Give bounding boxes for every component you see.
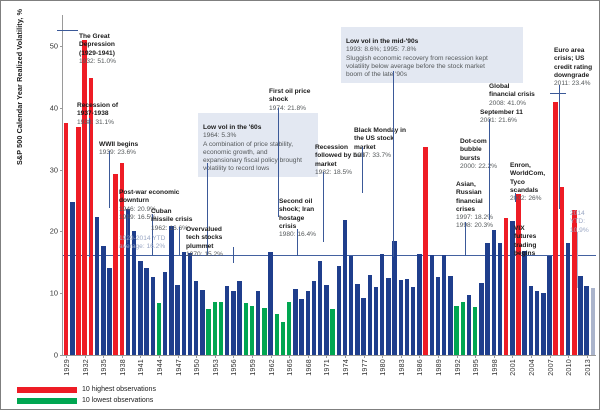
x-tick-label-1929: 1929: [62, 359, 71, 376]
x-tick-mark: [289, 355, 290, 358]
bar-2009: [560, 187, 564, 355]
leader-recession-1937: [89, 118, 90, 257]
bar-2004: [529, 286, 533, 355]
leader-low-vol-90s: [393, 71, 394, 257]
leader-wwii: [109, 151, 110, 208]
bar-1964: [281, 322, 285, 355]
annotation-2014-ytd: 2014 YTD: 10.9%: [570, 202, 600, 235]
leader-second-oil-shock: [297, 229, 298, 256]
x-tick-label-2004: 2004: [527, 359, 536, 376]
x-tick-mark: [531, 355, 532, 358]
bar-1972: [330, 309, 334, 355]
bar-1983: [399, 280, 403, 355]
bar-1990: [442, 255, 446, 355]
bar-1961: [262, 308, 266, 355]
bar-1991: [448, 276, 452, 355]
annotation-second-oil-shock: Second oil shock; Iran hostage crisis198…: [279, 190, 333, 239]
bar-1980: [380, 254, 384, 355]
x-tick-label-1950: 1950: [192, 359, 201, 376]
bar-1935: [101, 246, 105, 355]
x-tick-mark: [140, 355, 141, 358]
bar-1978: [368, 275, 372, 355]
bar-1944: [157, 303, 161, 355]
x-tick-mark: [233, 355, 234, 358]
y-tick-label: 10: [50, 289, 58, 298]
bar-1977: [361, 298, 365, 355]
bar-1943: [151, 277, 155, 355]
bar-1936: [107, 268, 111, 355]
leader-asian-russian: [465, 222, 466, 256]
bar-1971: [324, 285, 328, 355]
annotation-global-financial-crisis: Global financial crisis2008: 41.0%: [489, 75, 555, 108]
bar-1984: [405, 279, 409, 355]
bar-1974: [343, 220, 347, 355]
bar-1955: [225, 286, 229, 355]
bar-2014: [591, 288, 595, 355]
bar-1947: [175, 285, 179, 355]
annotation-tech-stocks: Overvalued tech stocks plummet1970: 15.2…: [186, 218, 248, 259]
bar-1960: [256, 291, 260, 355]
x-tick-label-1944: 1944: [155, 359, 164, 376]
x-tick-label-1977: 1977: [360, 359, 369, 376]
bar-1998: [492, 230, 496, 355]
bar-1954: [219, 302, 223, 355]
legend-item-lowest: 10 lowest observations: [17, 396, 156, 405]
x-tick-mark: [364, 355, 365, 358]
bar-1967: [299, 299, 303, 355]
bar-1945: [163, 272, 167, 355]
x-tick-mark: [568, 355, 569, 358]
bar-1952: [206, 309, 210, 355]
x-tick-label-2010: 2010: [564, 359, 573, 376]
bar-1968: [306, 291, 310, 355]
x-tick-mark: [345, 355, 346, 358]
x-tick-mark: [215, 355, 216, 358]
bar-2005: [535, 291, 539, 355]
bar-1981: [386, 278, 390, 355]
bar-1997: [485, 243, 489, 356]
x-tick-label-2007: 2007: [546, 359, 555, 376]
bar-1963: [275, 314, 279, 355]
bar-1982: [392, 241, 396, 355]
x-tick-label-1980: 1980: [378, 359, 387, 376]
bar-2008: [553, 102, 557, 355]
x-tick-mark: [122, 355, 123, 358]
bar-1930: [70, 202, 74, 355]
x-tick-label-1962: 1962: [267, 359, 276, 376]
annotation-great-depression: The Great Depression (1929-1941)1932: 51…: [79, 25, 159, 66]
bar-1966: [293, 289, 297, 355]
x-tick-label-1995: 1995: [471, 359, 480, 376]
bar-1989: [436, 277, 440, 356]
x-tick-mark: [85, 355, 86, 358]
annotation-black-monday: Black Monday in the US stock market1987:…: [354, 119, 434, 160]
bar-2000: [504, 218, 508, 355]
annotation-asian-russian: Asian, Russian financial crises1997: 18.…: [456, 173, 500, 230]
bar-1973: [337, 266, 341, 355]
bar-1950: [194, 281, 198, 355]
bar-1992: [454, 306, 458, 355]
bar-1948: [182, 252, 186, 355]
bar-1986: [417, 254, 421, 355]
y-tick-label: 30: [50, 165, 58, 174]
bar-1996: [479, 283, 483, 355]
bar-1975: [349, 256, 353, 355]
bar-1934: [95, 217, 99, 355]
x-tick-label-1941: 1941: [136, 359, 145, 376]
x-tick-mark: [550, 355, 551, 358]
x-tick-label-1938: 1938: [118, 359, 127, 376]
x-tick-mark: [438, 355, 439, 358]
annotation-euro-crisis: Euro area crisis; US credit rating downg…: [554, 39, 600, 88]
x-tick-label-1932: 1932: [81, 359, 90, 376]
x-tick-mark: [419, 355, 420, 358]
bar-1994: [467, 295, 471, 355]
bar-1979: [374, 287, 378, 355]
bar-1959: [250, 306, 254, 355]
x-tick-mark: [271, 355, 272, 358]
x-tick-mark: [178, 355, 179, 358]
bar-1969: [312, 281, 316, 355]
bar-1988: [430, 255, 434, 355]
y-tick-label: 50: [50, 41, 58, 50]
x-tick-mark: [382, 355, 383, 358]
bar-1965: [287, 302, 291, 355]
x-tick-mark: [159, 355, 160, 358]
bar-2007: [547, 256, 551, 355]
x-tick-mark: [308, 355, 309, 358]
bar-1929: [64, 123, 68, 355]
legend-label-lowest: 10 lowest observations: [82, 397, 153, 404]
leader-recession-1982: [323, 172, 324, 242]
bar-1956: [231, 291, 235, 355]
annotation-low-vol-60s: Low vol in the '60s1964: 5.3% A combinat…: [198, 113, 318, 177]
bar-2010: [566, 243, 570, 355]
bar-1931: [76, 127, 80, 355]
leader-tech-stocks: [233, 247, 234, 263]
x-tick-mark: [196, 355, 197, 358]
y-tick-label: 20: [50, 227, 58, 236]
x-tick-label-1947: 1947: [174, 359, 183, 376]
leader-global-financial-crisis: [550, 93, 566, 94]
x-tick-label-1992: 1992: [453, 359, 462, 376]
legend-swatch-lowest: [17, 398, 77, 404]
x-tick-mark: [401, 355, 402, 358]
bar-1953: [213, 302, 217, 355]
legend-swatch-highest: [17, 387, 77, 393]
bar-1993: [461, 302, 465, 355]
x-tick-mark: [475, 355, 476, 358]
x-tick-label-1998: 1998: [490, 359, 499, 376]
x-tick-mark: [326, 355, 327, 358]
x-tick-label-2013: 2013: [583, 359, 592, 376]
x-tick-label-1953: 1953: [211, 359, 220, 376]
bar-1932: [82, 40, 86, 355]
x-tick-label-1956: 1956: [229, 359, 238, 376]
bar-1941: [138, 261, 142, 355]
bar-1957: [237, 281, 241, 355]
x-tick-label-2001: 2001: [508, 359, 517, 376]
leader-euro-crisis: [559, 85, 560, 209]
bar-1987: [423, 147, 427, 355]
y-tick-label: 40: [50, 103, 58, 112]
x-tick-mark: [457, 355, 458, 358]
x-tick-label-1986: 1986: [415, 359, 424, 376]
bar-1999: [498, 243, 502, 355]
annotation-wwii: WWII begins1939: 23.6%: [99, 133, 173, 158]
x-tick-mark: [494, 355, 495, 358]
legend-label-highest: 10 highest observations: [82, 386, 156, 393]
x-tick-mark: [587, 355, 588, 358]
annotation-vix-futures: VIX futures trading begins: [514, 217, 552, 266]
bar-1985: [411, 287, 415, 355]
annotation-average: 1929-2014 YTD average: 16.2%: [119, 227, 189, 252]
y-tick-mark: [60, 355, 63, 356]
bar-1962: [268, 252, 272, 355]
bar-2013: [584, 286, 588, 355]
bar-1951: [200, 290, 204, 355]
annotation-enron: Enron, WorldCom, Tyco scandals2002: 26%: [510, 154, 552, 203]
x-tick-label-1959: 1959: [248, 359, 257, 376]
x-tick-mark: [66, 355, 67, 358]
y-axis-label: S&P 500 Calendar Year Realized Volatilit…: [15, 9, 24, 165]
x-tick-mark: [252, 355, 253, 358]
bar-1937: [113, 174, 117, 355]
legend-item-highest: 10 highest observations: [17, 385, 156, 394]
x-tick-label-1974: 1974: [341, 359, 350, 376]
bar-2006: [541, 293, 545, 355]
leader-great-depression: [57, 30, 78, 31]
y-tick-label: 0: [54, 351, 58, 360]
leader-2014-ytd: [577, 232, 578, 288]
x-tick-label-1989: 1989: [434, 359, 443, 376]
x-tick-label-1968: 1968: [304, 359, 313, 376]
x-tick-label-1983: 1983: [397, 359, 406, 376]
chart-root: S&P 500 Calendar Year Realized Volatilit…: [0, 0, 600, 410]
legend: 10 highest observations 10 lowest observ…: [17, 385, 156, 407]
leader-september-11: [489, 119, 490, 220]
bar-1942: [144, 268, 148, 355]
bar-1958: [244, 303, 248, 355]
x-tick-mark: [512, 355, 513, 358]
x-tick-label-1965: 1965: [285, 359, 294, 376]
bar-1949: [188, 253, 192, 355]
bar-2012: [578, 276, 582, 355]
leader-enron: [515, 193, 516, 202]
bar-1995: [473, 307, 477, 355]
bar-1970: [318, 261, 322, 355]
bar-1976: [355, 284, 359, 355]
leader-black-monday: [362, 147, 363, 193]
annotation-dotcom: Dot-com bubble bursts2000: 22.2%: [460, 130, 504, 171]
x-tick-mark: [103, 355, 104, 358]
x-tick-label-1971: 1971: [322, 359, 331, 376]
x-tick-label-1935: 1935: [99, 359, 108, 376]
